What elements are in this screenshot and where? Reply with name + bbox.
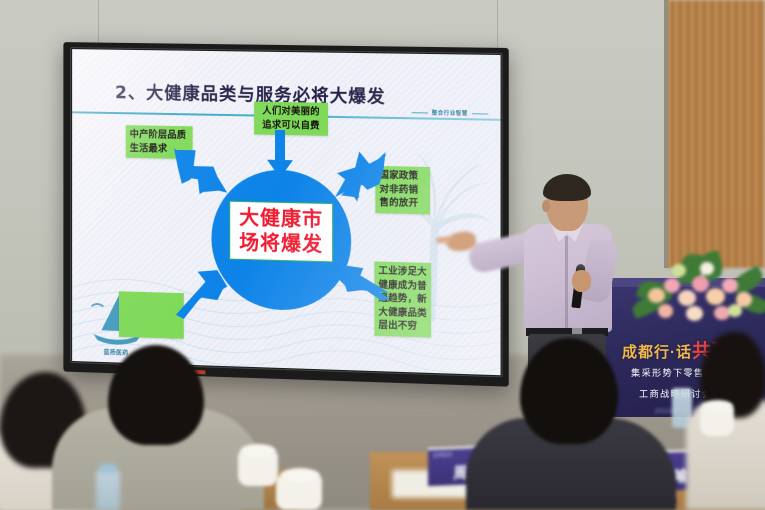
teacup-lid [702, 400, 733, 412]
brand-text: 整合行业智慧 [432, 109, 468, 118]
wood-slat-panel [668, 0, 765, 268]
flower [700, 262, 714, 275]
speaker-ear [542, 200, 550, 212]
slide-brand-mark: 整合行业智慧 [411, 108, 488, 117]
arrow-from-national-policy [335, 151, 387, 204]
flower [728, 304, 742, 317]
flower [706, 288, 725, 305]
speaker-hand-holding-mic [572, 270, 591, 292]
conference-room-photo: 2、大健康品类与服务必将大爆发 整合行业智慧 [0, 0, 765, 510]
arrow-from-middle-class [174, 146, 227, 201]
flower [722, 278, 738, 293]
flower [692, 276, 709, 292]
water-bottle [96, 470, 120, 510]
teacup-lid [280, 468, 320, 483]
flower [678, 290, 696, 306]
flower [686, 306, 703, 321]
flower [664, 278, 680, 293]
wall-mounted-tv: 2、大健康品类与服务必将大爆发 整合行业智慧 [63, 42, 508, 387]
flower-arrangement [636, 248, 765, 330]
placard-logo-left: 蓝扬医药 [433, 452, 453, 459]
wall-seam [98, 0, 99, 45]
callout-lower-left [119, 291, 184, 339]
center-node-label: 大健康市场将爆发 [229, 201, 333, 263]
brand-line-right [472, 113, 488, 114]
tv-screen: 2、大健康品类与服务必将大爆发 整合行业智慧 [72, 49, 500, 375]
slide-title: 2、大健康品类与服务必将大爆发 [115, 79, 386, 108]
speaker-shirt-placket [565, 236, 568, 328]
water-bottle-cap [100, 464, 116, 473]
flower [672, 264, 686, 277]
teacup-lid [240, 444, 276, 458]
presentation-slide: 2、大健康品类与服务必将大爆发 整合行业智慧 [72, 49, 500, 375]
banner-title-left: 成都行·话 [622, 344, 692, 361]
brand-line-left [411, 112, 427, 113]
flower [658, 304, 673, 318]
flower [648, 288, 665, 303]
